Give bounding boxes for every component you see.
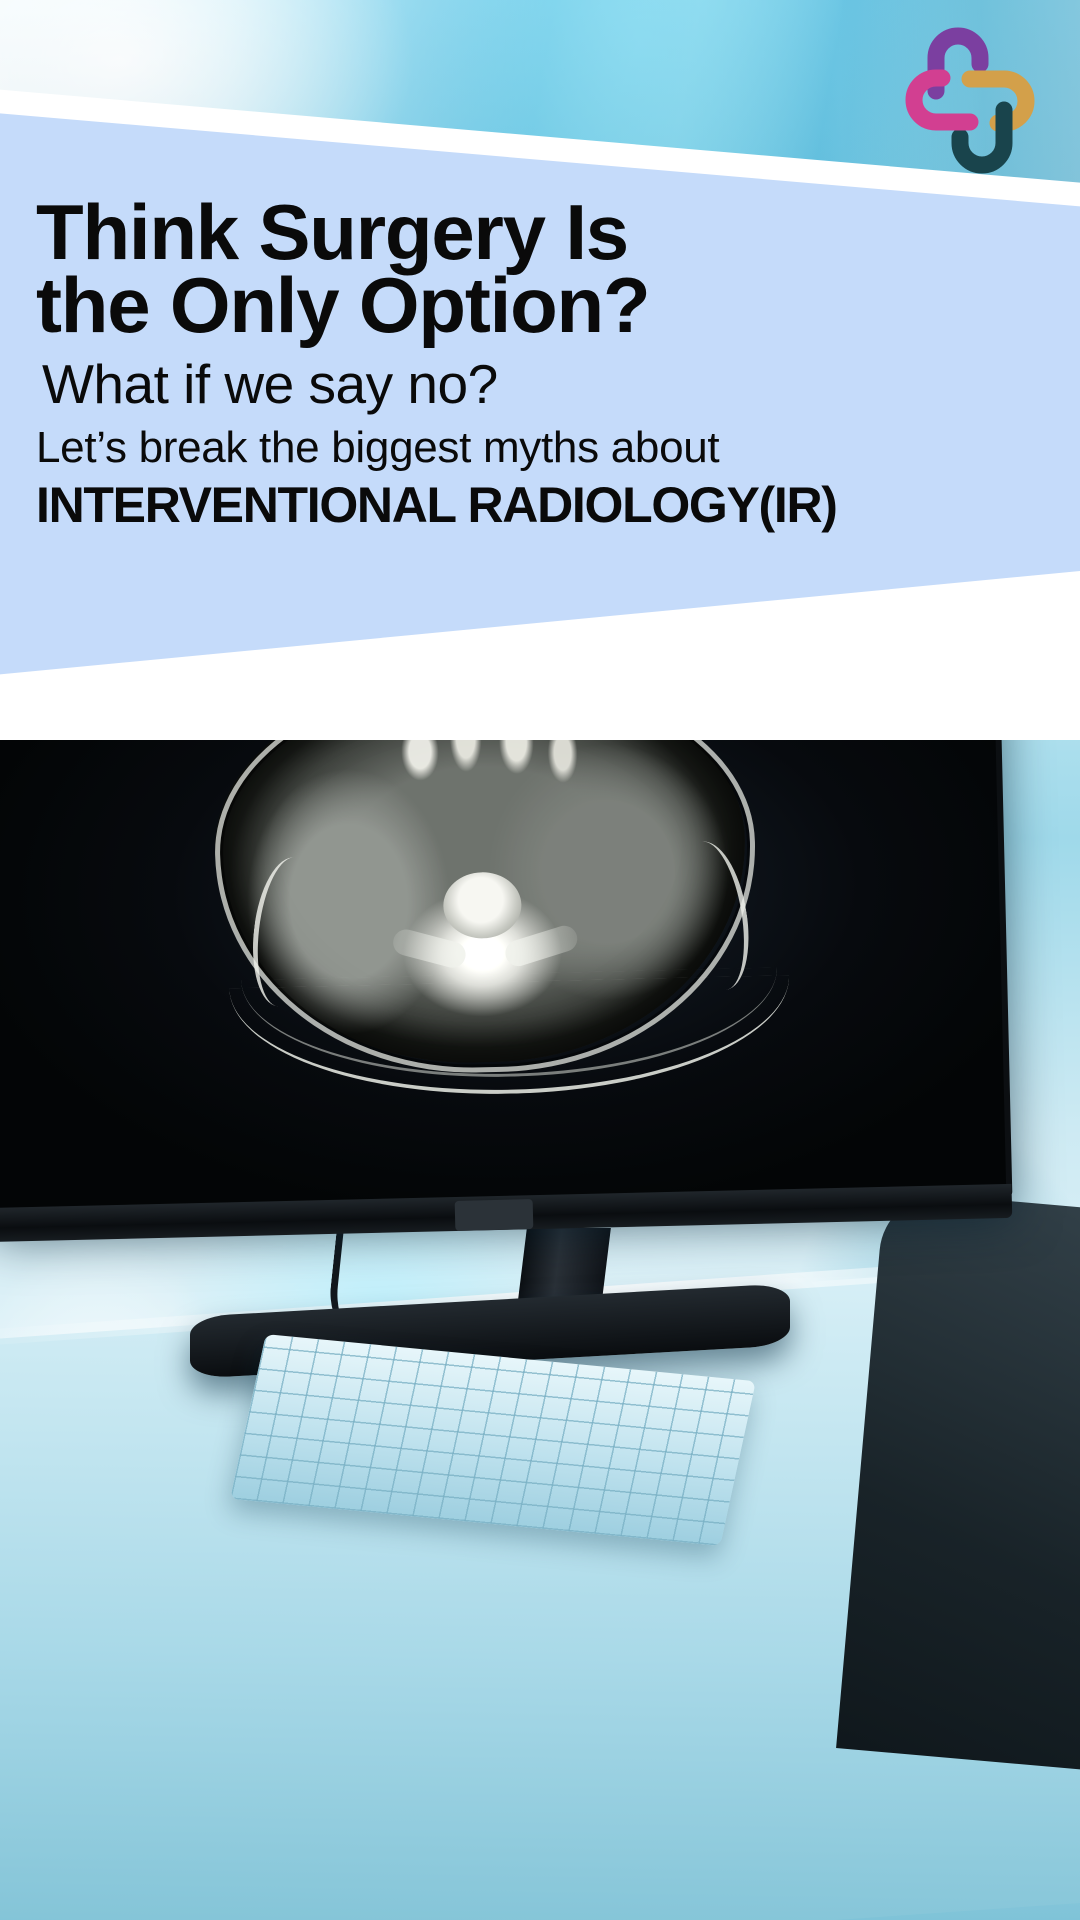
headline-text-block: Think Surgery Is the Only Option? What i… [36, 196, 1046, 530]
logo-pink-arm [914, 78, 970, 122]
page-title: Think Surgery Is the Only Option? [36, 196, 736, 341]
emphasis-text: INTERVENTIONAL RADIOLOGY(IR) [36, 480, 1046, 530]
monitor-stand-mount [455, 1199, 534, 1231]
bottom-background-photo [0, 600, 1080, 1920]
subheadline: What if we say no? [42, 357, 1046, 412]
lead-in-text: Let’s break the biggest myths about [36, 426, 1046, 470]
poster-canvas: Think Surgery Is the Only Option? What i… [0, 0, 1080, 1920]
pinwheel-cross-logo [880, 18, 1060, 183]
